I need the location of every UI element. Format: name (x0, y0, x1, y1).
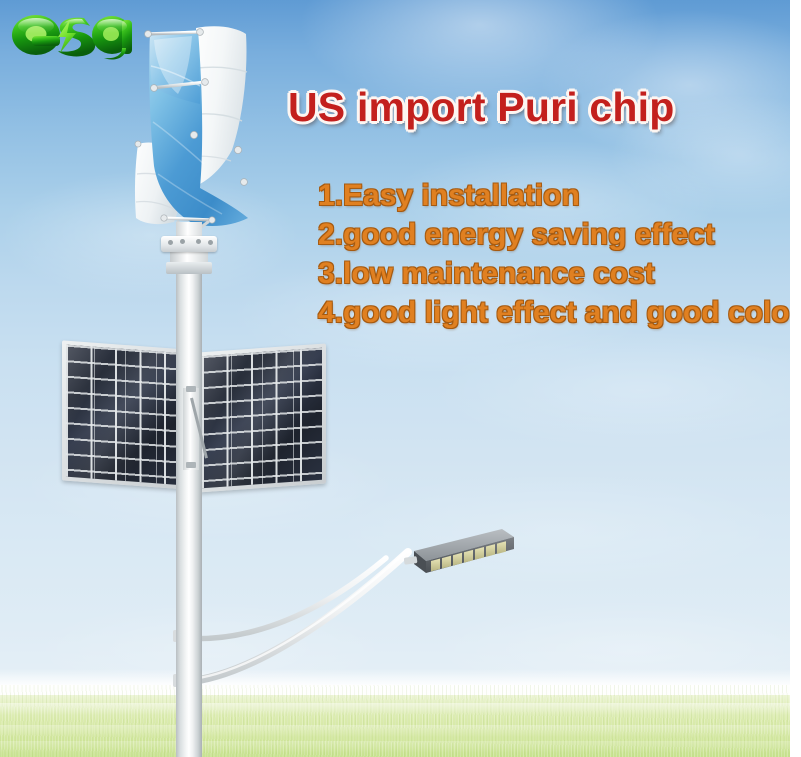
mount-bolt (168, 240, 173, 245)
led-street-light-head (404, 523, 516, 585)
solar-panel-left (62, 340, 188, 489)
scene-photo: US import Puri chip 1.Easy installation … (0, 0, 790, 757)
street-light-pole (176, 258, 202, 757)
mount-bolt (180, 239, 185, 244)
feature-item-3: 3.low maintenance cost (318, 254, 788, 293)
feature-item-2: 2.good energy saving effect (318, 215, 788, 254)
product-banner: US import Puri chip 1.Easy installation … (0, 0, 801, 757)
esg-logo (8, 6, 132, 62)
panel-busbar (262, 352, 263, 484)
feature-item-1: 1.Easy installation (318, 176, 788, 215)
panel-busbar (94, 347, 95, 479)
mount-bolt (196, 239, 201, 244)
grass-band (0, 741, 790, 753)
feature-item-4: 4.good light effect and good color (318, 293, 788, 332)
panel-busbar (125, 349, 126, 481)
feature-list: 1.Easy installation 2.good energy saving… (318, 176, 788, 332)
turbine-collar (166, 262, 212, 274)
page-title: US import Puri chip (288, 86, 758, 129)
solar-panel-right (198, 344, 326, 493)
panel-clamp (186, 386, 196, 392)
panel-clamp (186, 462, 196, 468)
panel-busbar (293, 350, 294, 482)
grass-band (0, 725, 790, 737)
panel-busbar (231, 354, 232, 486)
vertical-axis-wind-turbine (128, 22, 256, 240)
panel-busbar (156, 351, 157, 483)
mount-bolt (208, 240, 213, 245)
